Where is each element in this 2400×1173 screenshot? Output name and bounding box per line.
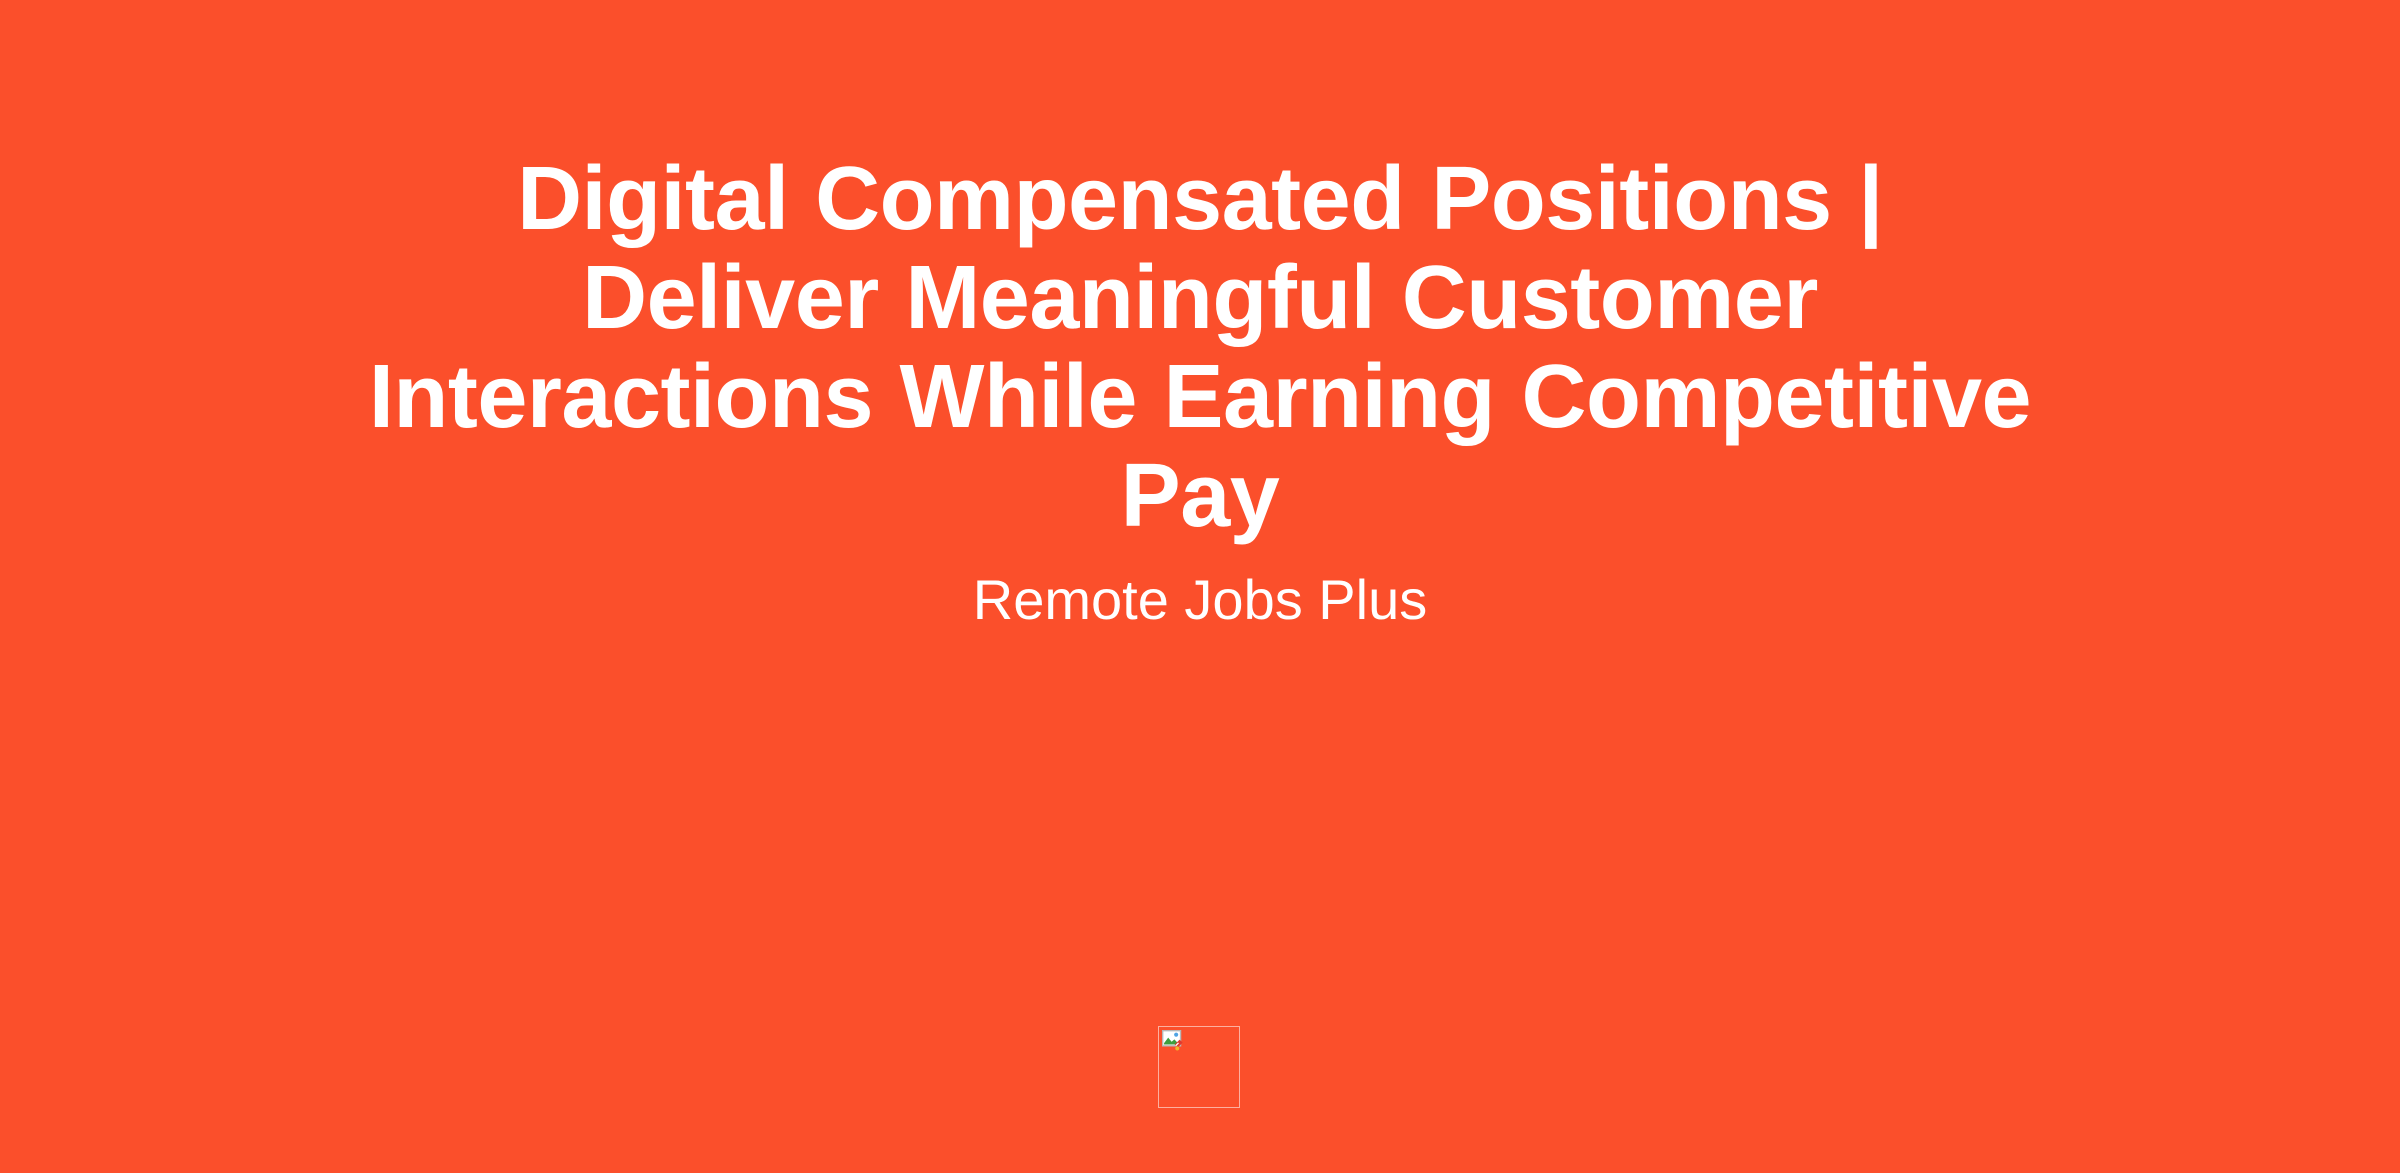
hero-section: Digital Compensated Positions | Deliver …: [0, 0, 2400, 634]
page-title: Digital Compensated Positions | Deliver …: [360, 150, 2040, 546]
broken-image-icon: [1162, 1030, 1184, 1052]
hero-image-slot: [1158, 1026, 1240, 1108]
landing-page: Digital Compensated Positions | Deliver …: [0, 0, 2400, 1173]
broken-image-placeholder[interactable]: [1158, 1026, 1240, 1108]
page-subtitle: Remote Jobs Plus: [973, 546, 1427, 634]
